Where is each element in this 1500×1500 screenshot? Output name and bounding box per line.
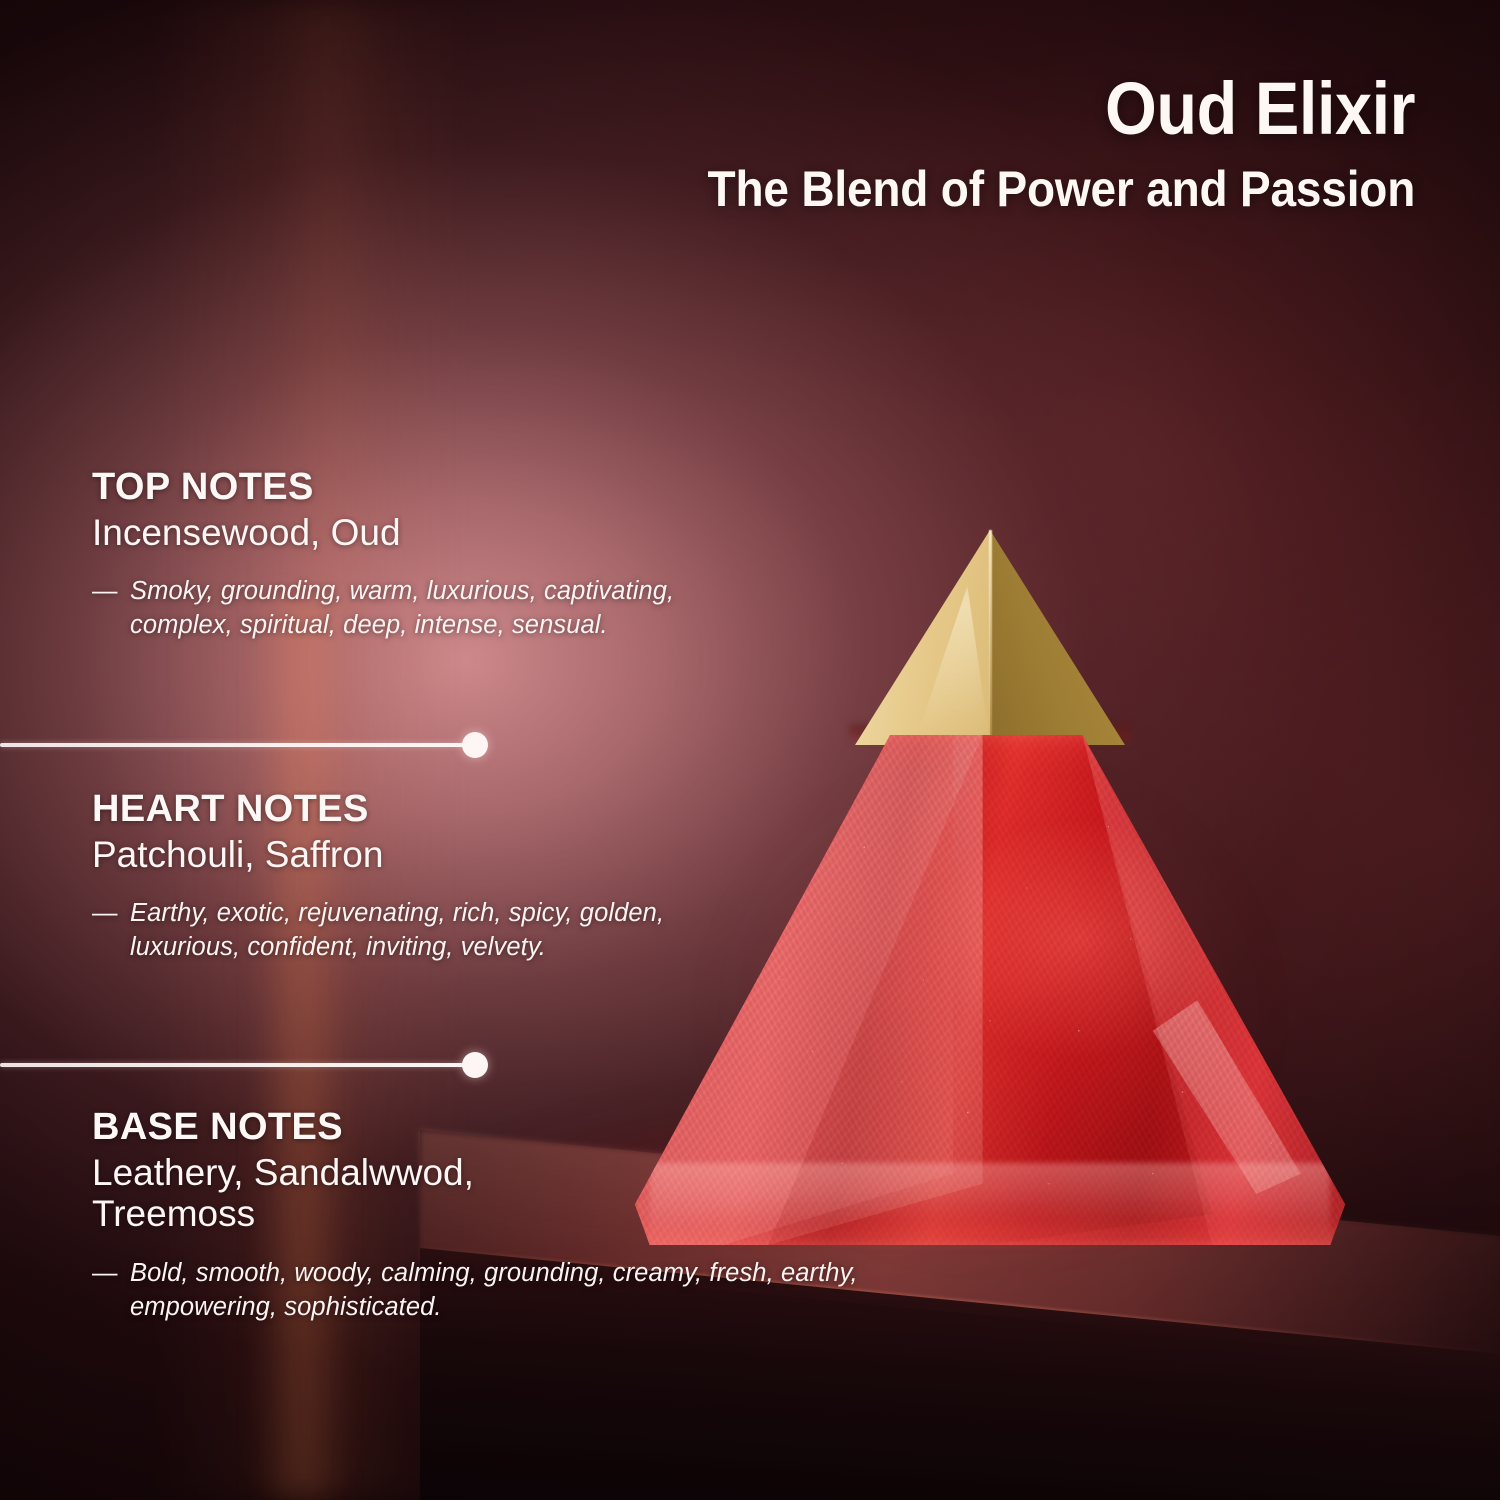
note-description-text-top: Smoky, grounding, warm, luxurious, capti…	[130, 577, 674, 639]
note-ingredients-heart: Patchouli, Saffron	[92, 834, 692, 875]
fragrance-notes-column: TOP NOTES Incensewood, Oud — Smoky, grou…	[0, 0, 700, 1500]
em-dash-top: —	[92, 575, 118, 609]
divider-dot-icon	[462, 1052, 488, 1078]
note-description-text-base: Bold, smooth, woody, calming, grounding,…	[130, 1259, 858, 1321]
note-block-top: TOP NOTES Incensewood, Oud — Smoky, grou…	[92, 468, 692, 643]
note-ingredients-base: Leathery, Sandalwwod, Treemoss	[92, 1152, 562, 1235]
divider-top-heart	[0, 743, 482, 747]
note-block-heart: HEART NOTES Patchouli, Saffron — Earthy,…	[92, 790, 692, 965]
note-description-top: — Smoky, grounding, warm, luxurious, cap…	[92, 575, 692, 642]
note-block-base: BASE NOTES Leathery, Sandalwwod, Treemos…	[92, 1108, 912, 1324]
em-dash-heart: —	[92, 897, 118, 931]
cap-center-ridge	[989, 530, 992, 745]
note-heading-heart: HEART NOTES	[92, 790, 692, 828]
page-subtitle: The Blend of Power and Passion	[707, 164, 1415, 214]
divider-dot-icon	[462, 732, 488, 758]
note-description-text-heart: Earthy, exotic, rejuvenating, rich, spic…	[130, 899, 664, 961]
title-group: Oud Elixir The Blend of Power and Passio…	[646, 72, 1415, 214]
note-heading-base: BASE NOTES	[92, 1108, 912, 1146]
divider-heart-base	[0, 1063, 482, 1067]
divider-line	[0, 1063, 482, 1067]
divider-line	[0, 743, 482, 747]
gold-pyramid-cap-icon	[855, 530, 1125, 745]
note-ingredients-top: Incensewood, Oud	[92, 512, 692, 553]
note-description-heart: — Earthy, exotic, rejuvenating, rich, sp…	[92, 897, 692, 964]
page-title: Oud Elixir	[723, 72, 1415, 146]
note-description-base: — Bold, smooth, woody, calming, groundin…	[92, 1257, 910, 1324]
poster-canvas: Oud Elixir The Blend of Power and Passio…	[0, 0, 1500, 1500]
em-dash-base: —	[92, 1257, 118, 1291]
note-heading-top: TOP NOTES	[92, 468, 692, 506]
